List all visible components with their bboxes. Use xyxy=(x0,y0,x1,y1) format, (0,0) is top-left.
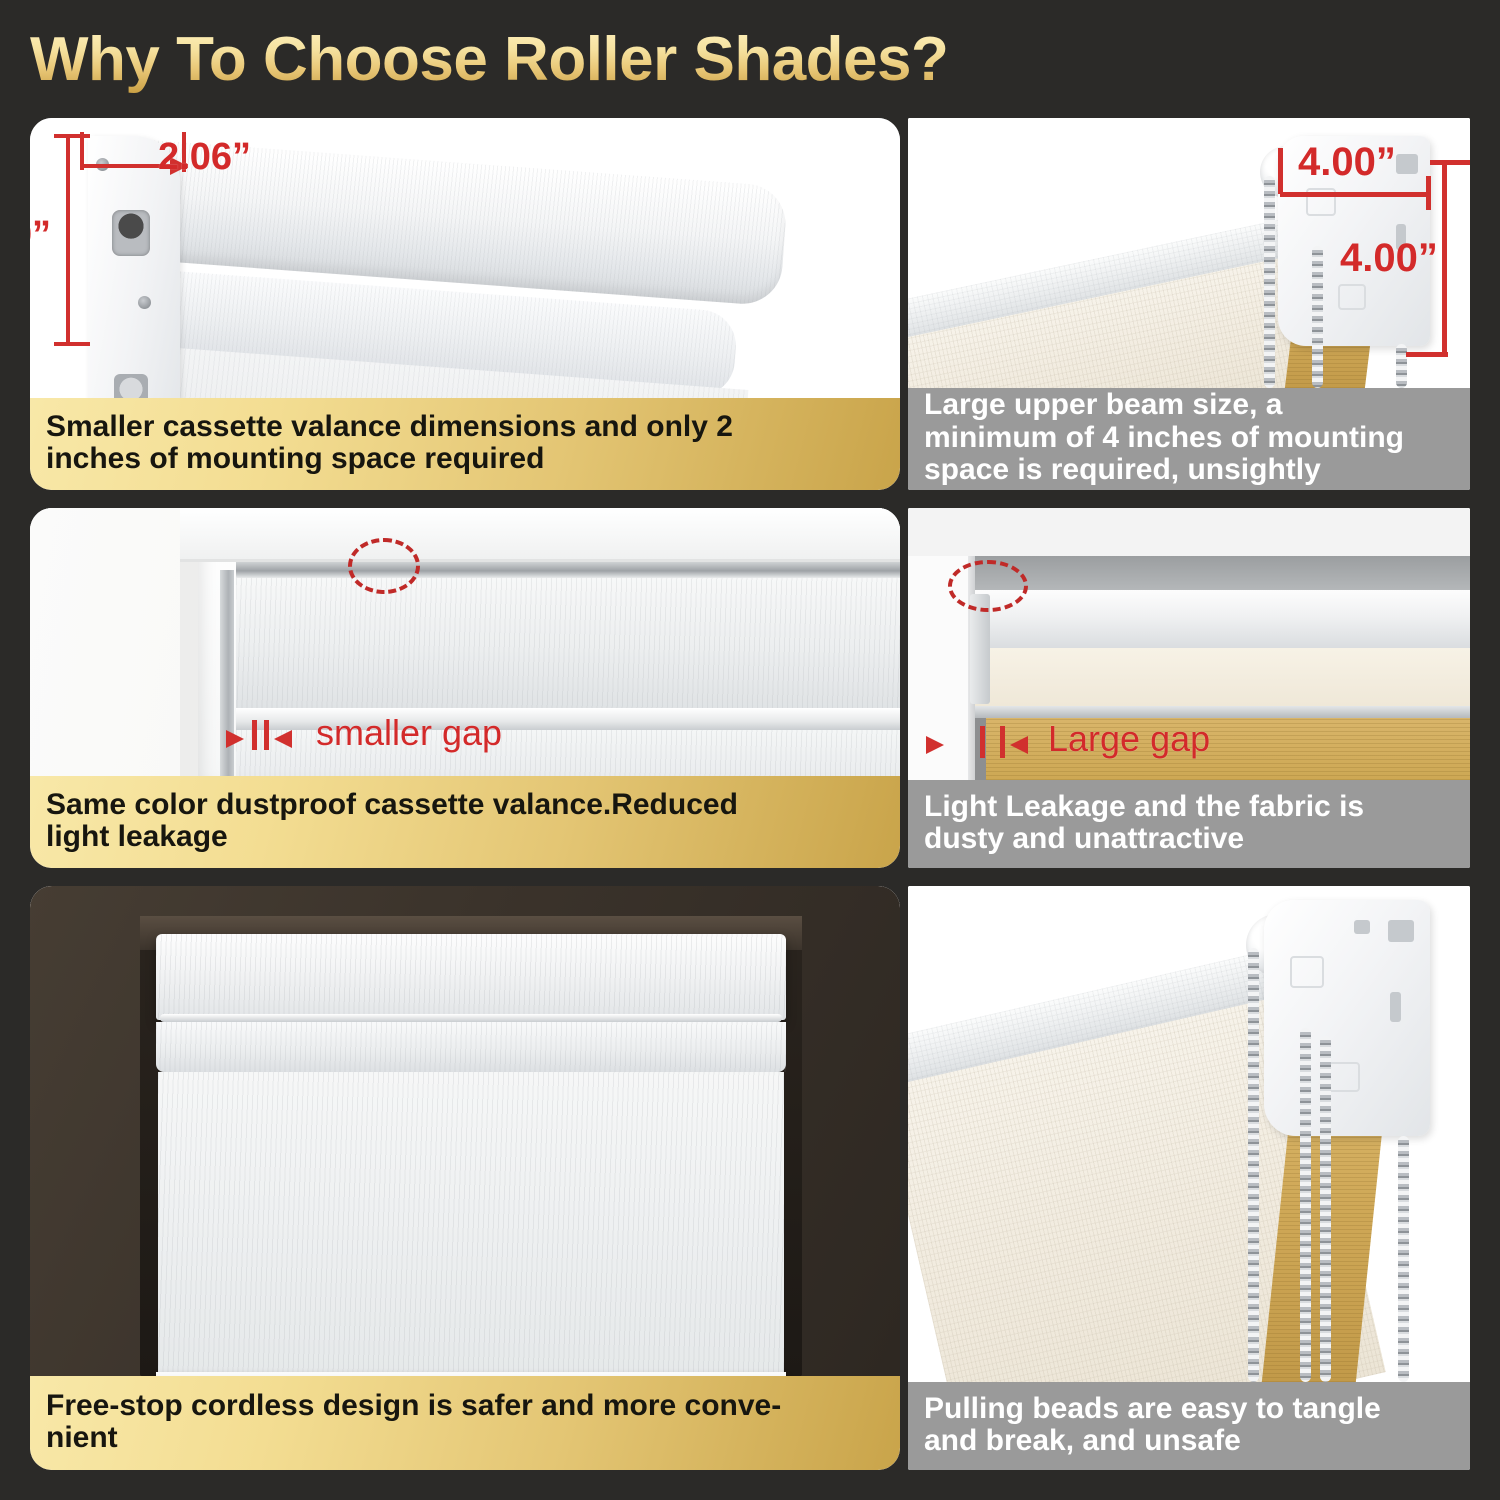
panel-2-caption: Large upper beam size, a minimum of 4 in… xyxy=(908,388,1470,490)
cassette-head-edge xyxy=(236,562,900,578)
screw-icon xyxy=(138,296,151,309)
panel-5-caption-line-1: Free-stop cordless design is safer and m… xyxy=(46,1390,781,1422)
gap-arrow-left xyxy=(226,730,244,748)
height-tick-top xyxy=(54,134,90,138)
shade-fabric xyxy=(158,1072,784,1372)
panel-1-caption-line-2: inches of mounting space required xyxy=(46,443,733,475)
panel-1-photo: 2.06” 5.49” xyxy=(30,118,900,398)
bracket-embossing xyxy=(1290,956,1324,988)
height-tick-top xyxy=(1430,160,1470,165)
bracket-slot xyxy=(1388,920,1414,942)
bead-chain xyxy=(1396,344,1407,388)
bead-chain xyxy=(1264,176,1275,388)
mounting-bracket xyxy=(1264,900,1430,1136)
bead-chain xyxy=(1398,1136,1409,1382)
panel-4-caption: Light Leakage and the fabric is dusty an… xyxy=(908,780,1470,868)
bead-chain xyxy=(1300,1028,1311,1382)
panel-3-photo: smaller gap xyxy=(30,508,900,776)
shadow-band xyxy=(974,556,1470,590)
bracket-embossing xyxy=(1338,284,1366,310)
panel-3-smaller-gap: smaller gap Same color dustproof cassett… xyxy=(30,508,900,868)
gap-arrow-right xyxy=(274,730,292,748)
bracket-embossing xyxy=(1328,1062,1360,1092)
panel-1-caption-line-1: Smaller cassette valance dimensions and … xyxy=(46,411,733,443)
bracket-slot xyxy=(1354,920,1370,934)
bottom-bracket-icon xyxy=(114,374,148,398)
panel-3-caption-line-1: Same color dustproof cassette valance.Re… xyxy=(46,789,738,821)
page-title: Why To Choose Roller Shades? xyxy=(30,24,1230,96)
panel-2-photo: 4.00” 4.00” xyxy=(908,118,1470,388)
panel-1-smaller-cassette: 2.06” 5.49” Smaller cassette valance dim… xyxy=(30,118,900,490)
bracket-slot xyxy=(1390,992,1401,1022)
panel-4-photo: Large gap xyxy=(908,508,1470,780)
height-dimension-label: 4.00” xyxy=(1340,236,1438,281)
panel-6-caption-line-2: and break, and unsafe xyxy=(924,1425,1381,1457)
panel-2-caption-line-3: space is required, unsightly xyxy=(924,454,1404,486)
bead-chain xyxy=(1320,1036,1331,1382)
roller-tube xyxy=(974,590,1470,648)
gap-marker-line xyxy=(1000,726,1005,758)
infographic-page: Why To Choose Roller Shades? 2.06” xyxy=(0,0,1500,1500)
width-tick-right xyxy=(1426,176,1431,210)
height-tick-bottom xyxy=(1406,352,1448,357)
gap-marker-line xyxy=(252,720,257,750)
bead-chain xyxy=(1312,246,1323,388)
gap-marker-line xyxy=(980,726,985,758)
width-dimension-label: 4.00” xyxy=(1298,140,1396,185)
valance-seam xyxy=(160,1014,782,1022)
gap-marker-line xyxy=(264,720,269,750)
highlight-circle-icon xyxy=(348,538,420,594)
window-frame-header xyxy=(180,508,900,562)
bracket-slot xyxy=(1396,154,1418,174)
metal-rail xyxy=(974,706,1470,718)
width-tick-left xyxy=(1278,148,1283,194)
shade-fabric-top xyxy=(974,648,1470,706)
panel-2-caption-line-2: minimum of 4 inches of mounting xyxy=(924,422,1404,454)
highlight-circle-icon xyxy=(948,560,1028,612)
cassette-valance-face xyxy=(236,578,900,708)
height-dimension-line xyxy=(1442,160,1447,356)
gap-arrow-right xyxy=(1010,736,1028,754)
panel-3-caption: Same color dustproof cassette valance.Re… xyxy=(30,776,900,868)
clutch-mechanism-icon xyxy=(112,210,150,256)
height-dimension-label: 5.49” xyxy=(30,214,51,257)
panel-3-caption-line-2: light leakage xyxy=(46,821,738,853)
panel-1-caption: Smaller cassette valance dimensions and … xyxy=(30,398,900,490)
roller-tube xyxy=(156,1022,786,1072)
panel-6-caption: Pulling beads are easy to tangle and bre… xyxy=(908,1382,1470,1470)
panel-5-caption: Free-stop cordless design is safer and m… xyxy=(30,1376,900,1470)
panel-2-caption-line-1: Large upper beam size, a xyxy=(924,389,1404,421)
panel-4-caption-line-1: Light Leakage and the fabric is xyxy=(924,791,1364,823)
height-dimension-line xyxy=(66,134,70,346)
panel-5-cordless-design: Free-stop cordless design is safer and m… xyxy=(30,886,900,1470)
gap-label: Large gap xyxy=(1048,718,1210,760)
panel-6-caption-line-1: Pulling beads are easy to tangle xyxy=(924,1393,1381,1425)
cassette-valance xyxy=(156,934,786,1020)
ceiling-surface xyxy=(908,508,1470,556)
panel-6-pulling-beads: Pulling beads are easy to tangle and bre… xyxy=(908,886,1470,1470)
panel-4-caption-line-2: dusty and unattractive xyxy=(924,823,1364,855)
panel-5-photo xyxy=(30,886,900,1376)
panel-2-large-beam: 4.00” 4.00” Large upper beam size, a min… xyxy=(908,118,1470,490)
panel-5-caption-line-2: nient xyxy=(46,1422,781,1454)
width-dimension-label: 2.06” xyxy=(158,136,251,179)
panel-4-light-leakage: Large gap Light Leakage and the fabric i… xyxy=(908,508,1470,868)
gap-label: smaller gap xyxy=(316,712,502,754)
bead-chain xyxy=(1248,948,1259,1382)
panel-6-photo xyxy=(908,886,1470,1382)
gap-arrow-left xyxy=(926,736,944,754)
width-dimension-line xyxy=(1280,192,1430,197)
height-tick-bottom xyxy=(54,342,90,346)
